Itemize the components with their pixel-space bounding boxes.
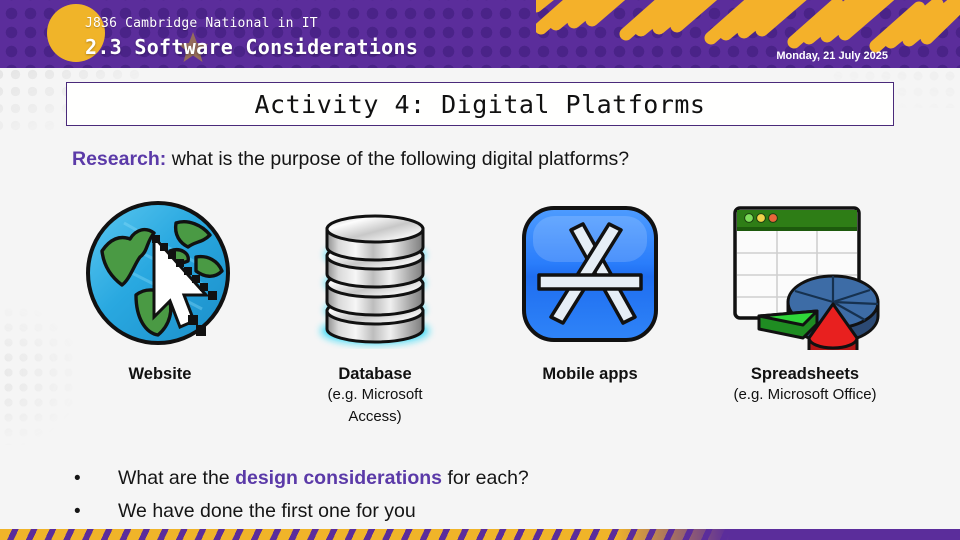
database-cylinder-icon — [305, 196, 445, 351]
bullet-item-2: • We have done the first one for you — [66, 495, 886, 528]
platform-label-mobile-apps: Mobile apps — [542, 364, 637, 384]
platform-item-website: Website — [60, 196, 260, 384]
activity-title-text: Activity 4: Digital Platforms — [255, 90, 706, 119]
header-text-group: J836 Cambridge National in IT 2.3 Softwa… — [85, 16, 418, 60]
bullet-marker-icon: • — [66, 462, 118, 495]
platform-item-spreadsheets: Spreadsheets (e.g. Microsoft Office) — [705, 196, 905, 406]
bottom-stripe-decoration — [0, 529, 960, 540]
course-code-label: J836 Cambridge National in IT — [85, 16, 418, 31]
slide-date-label: Monday, 21 July 2025 — [776, 50, 888, 62]
platform-label-spreadsheets: Spreadsheets — [751, 364, 859, 384]
platform-label-website: Website — [129, 364, 192, 384]
bullet-text-2: We have done the first one for you — [118, 495, 416, 528]
spreadsheet-piechart-icon — [725, 196, 885, 351]
bullet-marker-icon: • — [66, 495, 118, 528]
scribble-decoration — [536, 0, 960, 66]
bullet-text-1: What are the design considerations for e… — [118, 462, 529, 495]
research-lead-label: Research: — [72, 148, 166, 170]
research-question-text: what is the purpose of the following dig… — [166, 148, 629, 170]
app-store-icon — [517, 196, 663, 351]
bullet-list: • What are the design considerations for… — [66, 462, 886, 528]
bullet-text-2-pre: We have done the first one for you — [118, 500, 416, 522]
platform-sub-spreadsheets: (e.g. Microsoft Office) — [733, 384, 876, 406]
bullet-text-1-accent: design considerations — [235, 467, 442, 489]
platform-item-database: Database (e.g. Microsoft Access) — [275, 196, 475, 428]
bullet-item-1: • What are the design considerations for… — [66, 462, 886, 495]
platform-sub-database: (e.g. Microsoft Access) — [300, 384, 450, 428]
research-prompt: Research: what is the purpose of the fol… — [72, 148, 902, 171]
platform-icon-row: Website — [60, 196, 905, 436]
platform-label-database: Database — [338, 364, 411, 384]
globe-cursor-icon — [84, 196, 236, 351]
bullet-text-1-post: for each? — [442, 467, 529, 489]
slide-header: J836 Cambridge National in IT 2.3 Softwa… — [0, 0, 960, 68]
activity-title-box: Activity 4: Digital Platforms — [66, 82, 894, 126]
bullet-text-1-pre: What are the — [118, 467, 235, 489]
unit-title-label: 2.3 Software Considerations — [85, 34, 418, 60]
platform-item-mobile-apps: Mobile apps — [490, 196, 690, 384]
slide-canvas: J836 Cambridge National in IT 2.3 Softwa… — [0, 0, 960, 540]
